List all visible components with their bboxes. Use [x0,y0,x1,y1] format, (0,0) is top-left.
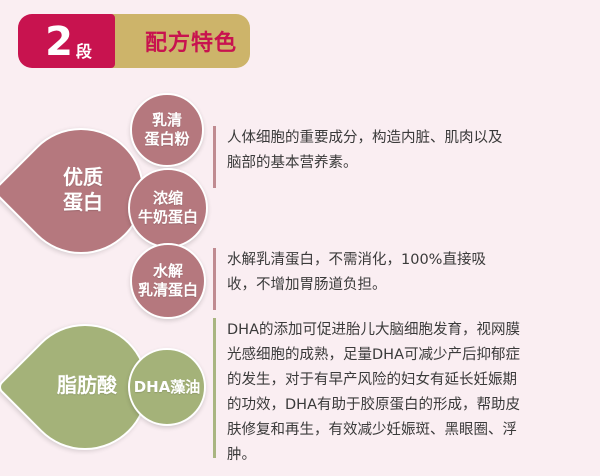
description-dha-line-6: 肿。 [227,443,597,468]
circle-whey-protein-powder[interactable]: 乳清 蛋白粉 [130,93,204,167]
stage-unit: 段 [76,44,92,60]
circle-concentrated-milk-protein-line1: 浓缩 [138,189,198,208]
description-protein-line-2: 脑部的基本营养素。 [227,151,593,176]
description-dha-line-3: 的发生，对于有早产风险的妇女有延长妊娠期 [227,368,597,393]
stage-badge-content: 2 段 [18,14,115,68]
circle-hydrolyzed-whey-protein[interactable]: 水解 乳清蛋白 [130,243,206,319]
header-title: 配方特色 [136,14,246,68]
description-hydrolyzed-line-2: 收，不增加胃肠道负担。 [227,273,593,298]
description-dha-line-4: 的功效，DHA有助于胶原蛋白的形成，帮助皮 [227,393,597,418]
description-dha-line-5: 肤修复和再生，有效减少妊娠斑、黑眼圈、浮 [227,418,597,443]
infographic-canvas: 配方特色 2 段 优质 蛋白 脂肪酸 乳清 蛋白粉 浓缩 牛奶蛋白 [0,0,600,468]
description-protein-line-1: 人体细胞的重要成分，构造内脏、肌肉以及 [227,126,593,151]
description-dha-line-1: DHA的添加可促进胎儿大脑细胞发育，视网膜 [227,318,597,343]
circle-whey-protein-powder-line1: 乳清 [144,111,189,130]
circle-concentrated-milk-protein-line2: 牛奶蛋白 [138,208,198,227]
description-dha: DHA的添加可促进胎儿大脑细胞发育，视网膜 光感细胞的成熟，足量DHA可减少产后… [213,318,597,458]
description-dha-line-2: 光感细胞的成熟，足量DHA可减少产后抑郁症 [227,343,597,368]
circle-hydrolyzed-whey-protein-line2: 乳清蛋白 [138,281,198,300]
circle-whey-protein-powder-line2: 蛋白粉 [144,130,189,149]
circle-dha-algae-oil-line1: DHA藻油 [134,378,201,397]
description-protein: 人体细胞的重要成分，构造内脏、肌肉以及 脑部的基本营养素。 [213,126,593,188]
circle-hydrolyzed-whey-protein-line1: 水解 [138,262,198,281]
stage-number: 2 [45,22,73,62]
circle-dha-algae-oil[interactable]: DHA藻油 [128,348,206,426]
description-hydrolyzed-line-1: 水解乳清蛋白，不需消化，100%直接吸 [227,248,593,273]
circle-concentrated-milk-protein[interactable]: 浓缩 牛奶蛋白 [128,168,208,248]
description-hydrolyzed: 水解乳清蛋白，不需消化，100%直接吸 收，不增加胃肠道负担。 [213,248,593,310]
